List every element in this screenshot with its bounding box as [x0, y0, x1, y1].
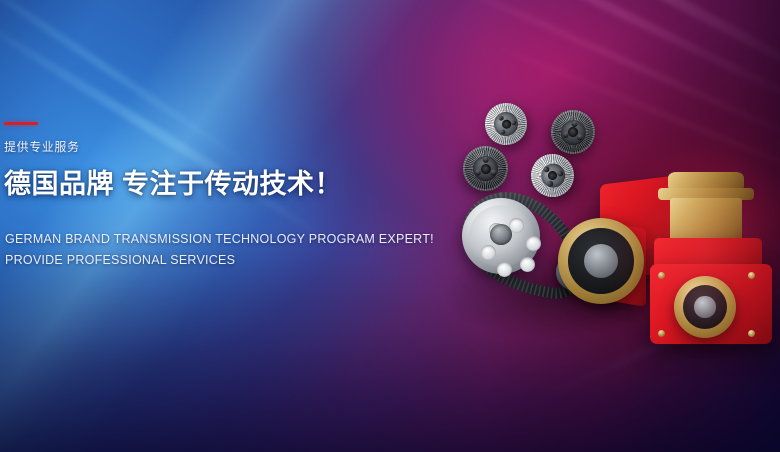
accent-bar — [4, 122, 38, 125]
page-title: 德国品牌 专注于传动技术！ — [4, 170, 423, 199]
eyebrow-text: 提供专业服务 — [4, 141, 423, 153]
hero-banner: 提供专业服务 德国品牌 专注于传动技术！ GERMAN BRAND TRANSM… — [0, 0, 780, 452]
banner-copy: 提供专业服务 德国品牌 专注于传动技术！ GERMAN BRAND TRANSM… — [3, 112, 423, 271]
subtitle-line-1: GERMAN BRAND TRANSMISSION TECHNOLOGY PRO… — [5, 229, 423, 250]
subtitle-line-2: PROVIDE PROFESSIONAL SERVICES — [5, 250, 423, 271]
